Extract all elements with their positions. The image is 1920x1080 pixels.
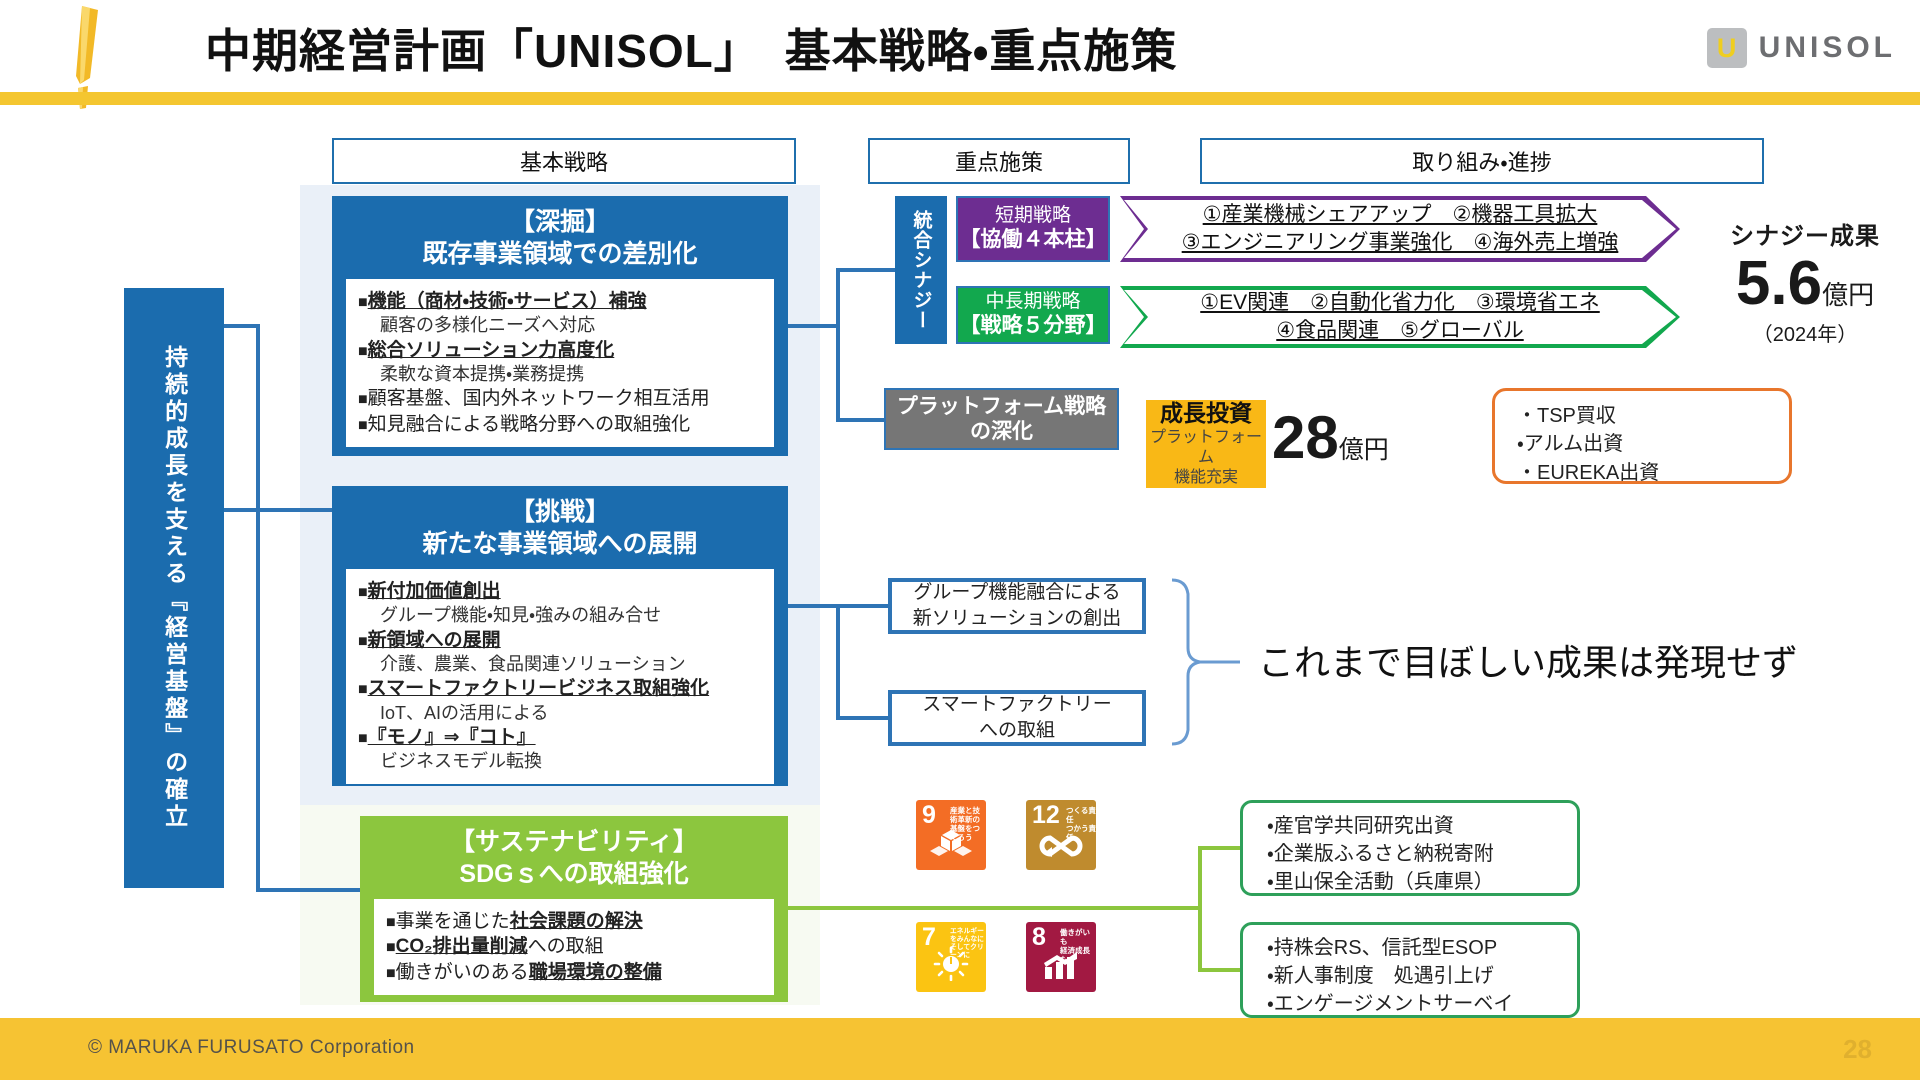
item-text: 総合ソリューション力高度化 xyxy=(368,340,615,361)
synergy-result-year: （2024年） xyxy=(1700,318,1910,347)
card-body: ■事業を通じた社会課題の解決 ■CO₂排出量削減への取組 ■働きがいのある職場環… xyxy=(374,899,774,995)
footer-page-number: 28 xyxy=(1843,1034,1872,1065)
chip-line2: の深化 xyxy=(970,419,1033,444)
item-text: CO₂排出量削減 xyxy=(396,936,528,957)
logo-mark-letter: U xyxy=(1716,35,1738,61)
item-plain: 働きがいのある xyxy=(396,962,529,983)
item-plain: 事業を通じた xyxy=(396,911,510,932)
synergy-tab-label: 統合シナジー xyxy=(908,210,935,330)
item-tail: への取組 xyxy=(528,936,604,957)
chip-subtitle: 短期戦略 xyxy=(995,205,1071,227)
card-title: 【挑戦】 新たな事業領域への展開 xyxy=(346,496,774,560)
chip-midlong-term-strategy: 中長期戦略 【戦略５分野】 xyxy=(956,286,1110,344)
unisol-logo: U UNISOL xyxy=(1707,26,1896,70)
card-title-line1: 【サステナビリティ】 xyxy=(374,826,774,858)
item-text: 顧客基盤、国内外ネットワーク相互活用 xyxy=(368,388,710,409)
strategy-card-shinkutsu: 【深掘】 既存事業領域での差別化 ■機能（商材・技術・サービス）補強 顧客の多様… xyxy=(332,196,788,456)
synergy-result-value: 5.6億円 xyxy=(1700,251,1910,316)
result-box-line2: への取組 xyxy=(979,718,1055,744)
card-title-line2: SDGｓへの取組強化 xyxy=(374,858,774,890)
list-item: ■知見融合による戦略分野への取組強化 xyxy=(358,412,762,437)
result-box-line2: 新ソリューションの創出 xyxy=(913,606,1122,632)
unisol-logo-mark: U xyxy=(1707,28,1747,68)
sdg-icon-12: 12 つくる責任つかう責任 xyxy=(1026,800,1096,870)
arrow-line-2: ③エンジニアリング事業強化 ④海外売上増強 xyxy=(1182,229,1619,257)
result-box-line1: スマートファクトリー xyxy=(922,692,1111,718)
growth-investment-value: 28億円 xyxy=(1272,408,1389,468)
item-text: 社会課題の解決 xyxy=(510,911,643,932)
item-sub: 柔軟な資本提携・業務提携 xyxy=(358,363,762,386)
card-title-line2: 新たな事業領域への展開 xyxy=(346,528,774,560)
chip-title: 【協働４本柱】 xyxy=(960,227,1107,252)
item-text: 機能（商材・技術・サービス）補強 xyxy=(368,291,647,312)
item-text: 知見融合による戦略分野への取組強化 xyxy=(368,414,690,435)
sdg-icon-9: 9 産業と技術革新の基盤をつくろう xyxy=(916,800,986,870)
result-box-smart-factory: スマートファクトリー への取組 xyxy=(888,690,1146,746)
footer-copyright: © MARUKA FURUSATO Corporation xyxy=(88,1037,415,1059)
column-header-basic-strategy: 基本戦略 xyxy=(332,138,796,184)
callout-item: ・EUREKA出資 xyxy=(1517,459,1789,487)
card-title-line2: 既存事業領域での差別化 xyxy=(346,238,774,270)
item-sub: IoT、AIの活用による xyxy=(358,702,762,725)
callout-item: ・TSP買収 xyxy=(1517,402,1789,430)
green-box-item: ・持株会RS、信託型ESOP xyxy=(1267,934,1577,962)
list-item: ■CO₂排出量削減への取組 xyxy=(386,934,762,959)
item-text: 新領域への展開 xyxy=(368,630,501,651)
strategy-card-sustainability: 【サステナビリティ】 SDGｓへの取組強化 ■事業を通じた社会課題の解決 ■CO… xyxy=(360,816,788,1002)
sdg-glyph-infinity-icon xyxy=(1026,833,1096,865)
card-title-line1: 【挑戦】 xyxy=(346,496,774,528)
growth-investment-sub1: プラットフォーム xyxy=(1146,428,1266,468)
synergy-tab: 統合シナジー xyxy=(895,196,947,344)
card-title: 【サステナビリティ】 SDGｓへの取組強化 xyxy=(374,826,774,890)
item-sub: グループ機能・知見・強みの組み合せ xyxy=(358,604,762,627)
sdg-glyph-industry-icon xyxy=(916,829,986,865)
list-item: ■新領域への展開 xyxy=(358,628,762,653)
chip-subtitle: 中長期戦略 xyxy=(985,291,1080,313)
arrow-line-1: ①EV関連 ②自動化省力化 ③環境省エネ xyxy=(1200,289,1600,317)
sdg-glyph-growth-chart-icon xyxy=(1026,951,1096,987)
growth-investment-sub2: 機能充実 xyxy=(1174,468,1238,488)
green-box-item: ・新人事制度 処遇引上げ xyxy=(1267,962,1577,990)
sdg-icon-7: 7 エネルギーをみんなにそしてクリーンに xyxy=(916,922,986,992)
chip-title: 【戦略５分野】 xyxy=(960,313,1107,338)
column-header-focus-measures: 重点施策 xyxy=(868,138,1130,184)
list-item: ■事業を通じた社会課題の解決 xyxy=(386,909,762,934)
card-body: ■機能（商材・技術・サービス）補強 顧客の多様化ニーズへ対応 ■総合ソリューショ… xyxy=(346,279,774,447)
arrow-line-2: ④食品関連 ⑤グローバル xyxy=(1276,317,1523,345)
list-item: ■顧客基盤、国内外ネットワーク相互活用 xyxy=(358,386,762,411)
growth-investment-unit: 億円 xyxy=(1339,436,1389,464)
growth-investment-title: 成長投資 xyxy=(1160,400,1252,428)
green-box-item: ・里山保全活動（兵庫県） xyxy=(1267,868,1577,896)
sdg-number: 9 xyxy=(922,803,936,828)
item-sub: ビジネスモデル転換 xyxy=(358,750,762,773)
result-box-line1: グループ機能融合による xyxy=(913,580,1120,606)
sdg-number: 8 xyxy=(1032,925,1046,950)
sdg-icon-8: 8 働きがいも経済成長も xyxy=(1026,922,1096,992)
arrow-line-1: ①産業機械シェアアップ ②機器工具拡大 xyxy=(1203,201,1598,229)
header-rule xyxy=(0,92,1920,105)
list-item: ■総合ソリューション力高度化 xyxy=(358,338,762,363)
green-box-item: ・産官学共同研究出資 xyxy=(1267,812,1577,840)
item-text: 『モノ』⇒『コト』 xyxy=(368,727,536,748)
unisol-logo-text: UNISOL xyxy=(1759,31,1896,65)
list-item: ■『モノ』⇒『コト』 xyxy=(358,725,762,750)
synergy-result-label: シナジー成果 xyxy=(1700,216,1910,251)
list-item: ■スマートファクトリービジネス取組強化 xyxy=(358,676,762,701)
callout-item: ・アルム出資 xyxy=(1517,430,1789,458)
item-sub: 顧客の多様化ニーズへ対応 xyxy=(358,314,762,337)
green-box-society: ・産官学共同研究出資 ・企業版ふるさと納税寄附 ・里山保全活動（兵庫県） xyxy=(1240,800,1580,896)
column-header-progress: 取り組み・進捗 xyxy=(1200,138,1764,184)
list-item: ■新付加価値創出 xyxy=(358,579,762,604)
synergy-result: シナジー成果 5.6億円 （2024年） xyxy=(1700,216,1910,347)
arrow-short-term: ①産業機械シェアアップ ②機器工具拡大 ③エンジニアリング事業強化 ④海外売上増… xyxy=(1124,200,1676,258)
foundation-bar-label: 持続的成長を支える『経営基盤』の確立 xyxy=(157,345,190,831)
synergy-result-unit: 億円 xyxy=(1822,280,1874,310)
page-title: 中期経営計画「UNISOL」 基本戦略・重点施策 xyxy=(205,16,1405,86)
list-item: ■機能（商材・技術・サービス）補強 xyxy=(358,289,762,314)
item-text: 職場環境の整備 xyxy=(529,962,662,983)
sdg-glyph-sun-icon xyxy=(916,947,986,987)
brace-note: これまで目ぼしい成果は発現せず xyxy=(1258,634,1798,686)
item-text: スマートファクトリービジネス取組強化 xyxy=(368,678,709,699)
arrow-midlong-term: ①EV関連 ②自動化省力化 ③環境省エネ ④食品関連 ⑤グローバル xyxy=(1124,290,1676,344)
sdg-number: 12 xyxy=(1032,803,1060,828)
chip-line1: プラットフォーム戦略 xyxy=(897,394,1106,419)
growth-investment-box: 成長投資 プラットフォーム 機能充実 xyxy=(1146,400,1266,488)
item-sub: 介護、農業、食品関連ソリューション xyxy=(358,653,762,676)
strategy-card-chousen: 【挑戦】 新たな事業領域への展開 ■新付加価値創出 グループ機能・知見・強みの組… xyxy=(332,486,788,786)
card-body: ■新付加価値創出 グループ機能・知見・強みの組み合せ ■新領域への展開 介護、農… xyxy=(346,569,774,784)
item-text: 新付加価値創出 xyxy=(368,581,501,602)
green-box-item: ・企業版ふるさと納税寄附 xyxy=(1267,840,1577,868)
foundation-bar: 持続的成長を支える『経営基盤』の確立 xyxy=(124,288,224,888)
footer-bar: © MARUKA FURUSATO Corporation 28 xyxy=(0,1018,1920,1080)
card-title-line1: 【深掘】 xyxy=(346,206,774,238)
green-box-workplace: ・持株会RS、信託型ESOP ・新人事制度 処遇引上げ ・エンゲージメントサーベ… xyxy=(1240,922,1580,1018)
chip-platform-strategy: プラットフォーム戦略 の深化 xyxy=(884,388,1119,450)
growth-investment-callout: ・TSP買収 ・アルム出資 ・EUREKA出資 xyxy=(1492,388,1792,484)
green-box-item: ・エンゲージメントサーベイ xyxy=(1267,990,1577,1018)
chip-short-term-strategy: 短期戦略 【協働４本柱】 xyxy=(956,196,1110,262)
list-item: ■働きがいのある職場環境の整備 xyxy=(386,960,762,985)
card-title: 【深掘】 既存事業領域での差別化 xyxy=(346,206,774,270)
result-box-group-function: グループ機能融合による 新ソリューションの創出 xyxy=(888,578,1146,634)
